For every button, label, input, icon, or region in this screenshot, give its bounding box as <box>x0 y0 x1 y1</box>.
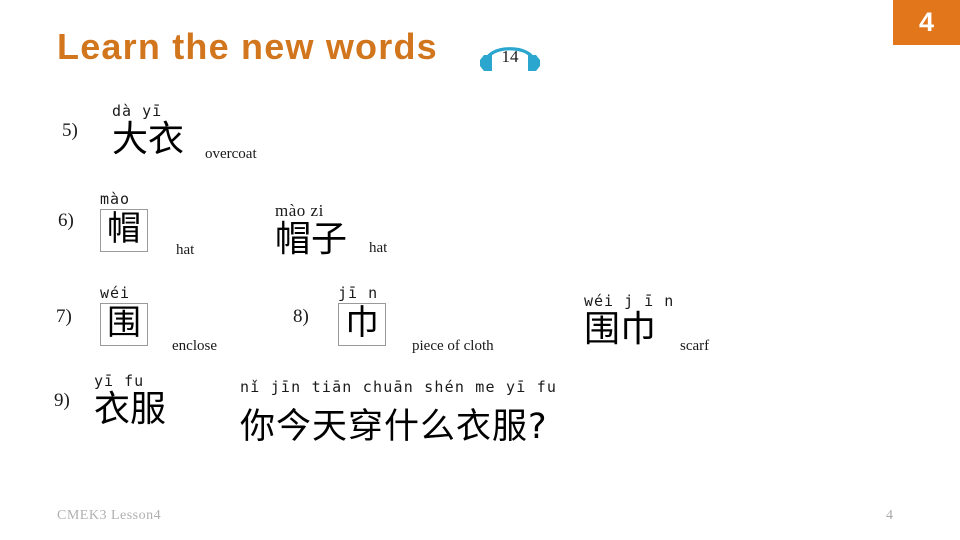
hanzi-label: 衣服 <box>94 391 166 429</box>
vocab-entry: yī fu 衣服 <box>94 374 166 429</box>
pinyin-label: wéi j ī n <box>584 294 674 309</box>
row-index-8: 8) <box>293 306 309 328</box>
gloss-label: overcoat <box>205 146 257 163</box>
row-index-5: 5) <box>62 120 78 142</box>
vocab-entry: dà yī 大衣 <box>112 104 184 159</box>
hanzi-label: 围巾 <box>584 311 674 349</box>
sentence-hanzi: 你今天穿什么衣服? <box>240 398 557 449</box>
pinyin-label: jī n <box>338 286 386 301</box>
pinyin-label: dà yī <box>112 104 184 119</box>
vocab-entry: jī n 巾 <box>338 286 386 346</box>
page-title: Learn the new words <box>57 26 438 68</box>
row-index-7: 7) <box>56 306 72 328</box>
vocab-entry: mào 帽 <box>100 192 148 252</box>
gloss-label: hat <box>369 240 387 257</box>
hanzi-label: 帽 <box>100 209 148 252</box>
pinyin-label: mào <box>100 192 148 207</box>
vocab-entry: wéi j ī n 围巾 <box>584 294 674 349</box>
pinyin-label: yī fu <box>94 374 166 389</box>
gloss-label: hat <box>176 242 194 259</box>
row-index-9: 9) <box>54 390 70 412</box>
vocab-entry: wéi 围 <box>100 286 148 346</box>
sentence-pinyin: nǐ jīn tiān chuān shén me yī fu <box>240 378 557 396</box>
audio-track-number: 14 <box>478 47 542 67</box>
footer-label: CMEK3 Lesson4 <box>57 508 161 524</box>
page-number: 4 <box>886 508 893 524</box>
pinyin-label: wéi <box>100 286 148 301</box>
pinyin-label: mào zi <box>275 202 347 219</box>
hanzi-label: 围 <box>100 303 148 346</box>
hanzi-label: 大衣 <box>112 121 184 159</box>
example-sentence: nǐ jīn tiān chuān shén me yī fu 你今天穿什么衣服… <box>240 378 557 449</box>
gloss-label: enclose <box>172 338 217 355</box>
vocab-entry: mào zi 帽子 <box>275 202 347 259</box>
hanzi-label: 巾 <box>338 303 386 346</box>
gloss-label: piece of cloth <box>412 338 494 355</box>
slide-number-badge: 4 <box>893 0 960 45</box>
gloss-label: scarf <box>680 338 709 355</box>
row-index-6: 6) <box>58 210 74 232</box>
audio-play-badge[interactable]: 14 <box>478 33 542 79</box>
hanzi-label: 帽子 <box>275 221 347 259</box>
